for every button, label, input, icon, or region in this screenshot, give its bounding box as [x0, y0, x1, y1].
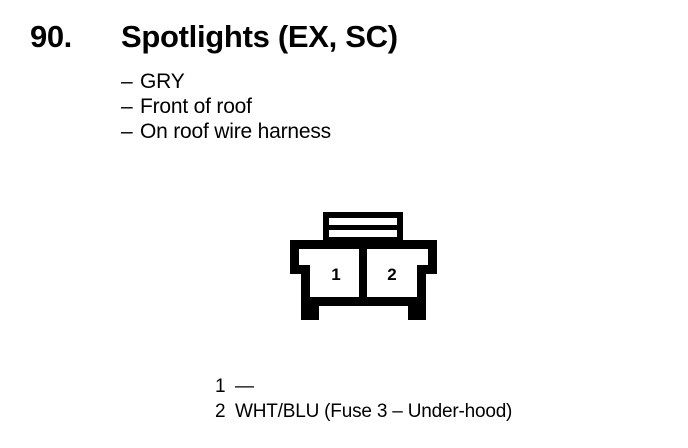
dash-bullet-icon: – [121, 119, 140, 144]
list-item: – Front of roof [121, 94, 541, 119]
pin-legend: 1 — 2 WHT/BLU (Fuse 3 – Under-hood) [215, 374, 675, 424]
attribute-list: – GRY – Front of roof – On roof wire har… [121, 69, 541, 144]
list-item: – On roof wire harness [121, 119, 541, 144]
legend-row: 1 — [215, 374, 675, 399]
connector-diagram: 1 2 [284, 206, 446, 326]
pin-number-1: 1 [331, 265, 340, 284]
pin-number-2: 2 [387, 265, 396, 284]
attribute-text: GRY [140, 69, 185, 94]
list-item: – GRY [121, 69, 541, 94]
legend-pin-number: 1 [215, 374, 235, 399]
entry-number: 90. [30, 18, 72, 56]
pin-cavity-divider [359, 240, 367, 306]
attribute-text: On roof wire harness [140, 119, 331, 144]
entry-header: 90. Spotlights (EX, SC) [0, 18, 688, 60]
legend-pin-number: 2 [215, 399, 235, 424]
legend-pin-description: WHT/BLU (Fuse 3 – Under-hood) [235, 399, 512, 424]
page-title: Spotlights (EX, SC) [121, 18, 398, 56]
attribute-text: Front of roof [140, 94, 252, 119]
dash-bullet-icon: – [121, 69, 140, 94]
legend-pin-description: — [235, 374, 254, 399]
legend-row: 2 WHT/BLU (Fuse 3 – Under-hood) [215, 399, 675, 424]
dash-bullet-icon: – [121, 94, 140, 119]
connector-reference-page: 90. Spotlights (EX, SC) – GRY – Front of… [0, 0, 688, 448]
connector-locking-tab [323, 212, 403, 244]
